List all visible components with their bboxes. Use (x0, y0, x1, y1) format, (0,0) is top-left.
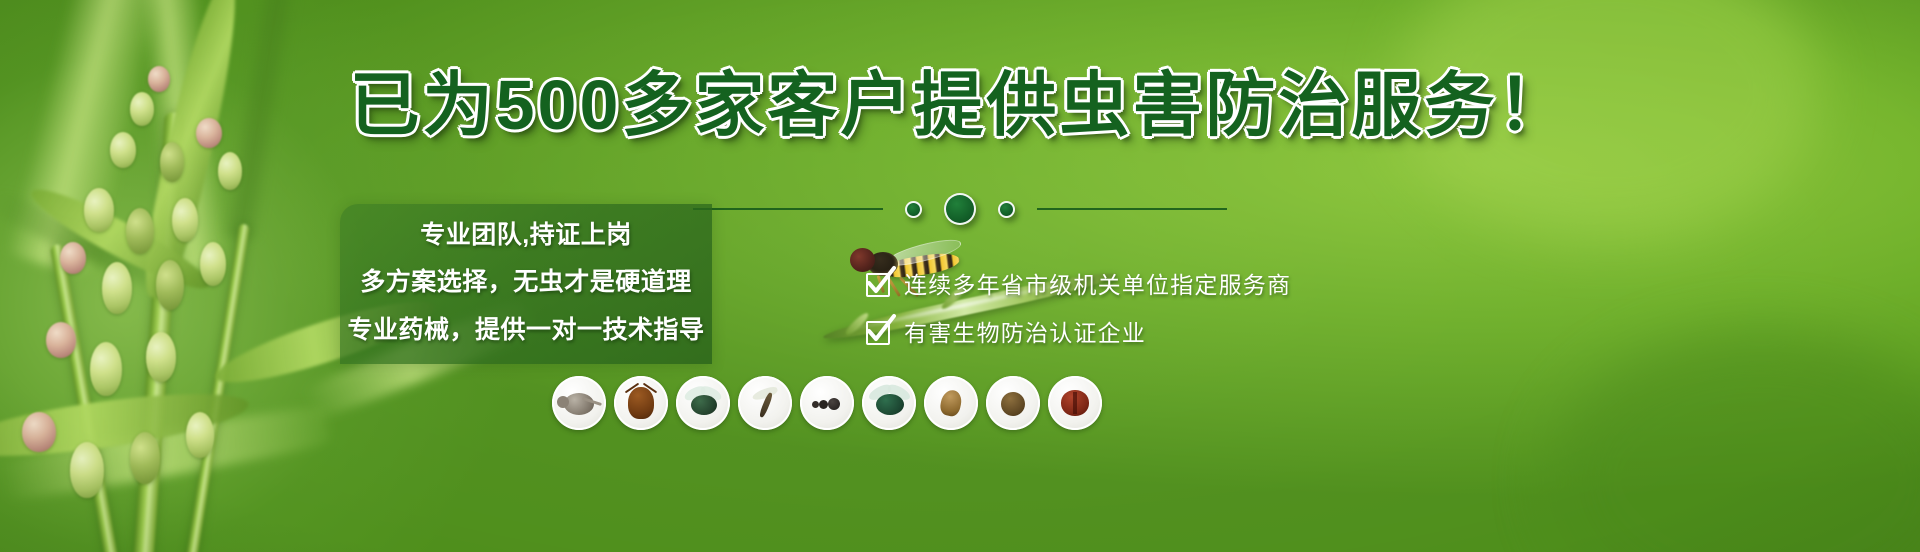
credentials-list: 连续多年省市级机关单位指定服务商 有害生物防治认证企业 (866, 272, 1291, 346)
banner-headline-text: 已为500多家客户提供虫害防治服务！ (350, 66, 1571, 144)
divider-dot-large (944, 193, 976, 225)
divider-line-right (1037, 208, 1227, 210)
selling-points-panel: 专业团队,持证上岗 多方案选择，无虫才是硬道理 专业药械，提供一对一技术指导 (340, 204, 712, 364)
cockroach-icon[interactable] (614, 376, 668, 430)
credential-label: 有害生物防治认证企业 (904, 320, 1146, 346)
credential-item: 有害生物防治认证企业 (866, 320, 1291, 346)
promo-banner: 已为500多家客户提供虫害防治服务！ 专业团队,持证上岗 多方案选择，无虫才是硬… (0, 0, 1920, 552)
credential-label: 连续多年省市级机关单位指定服务商 (904, 272, 1291, 298)
banner-headline: 已为500多家客户提供虫害防治服务！ (0, 62, 1920, 148)
checkbox-checked-icon (866, 321, 890, 345)
pest-icon-row (552, 376, 1102, 430)
divider-line-left (693, 208, 883, 210)
blowfly-icon[interactable] (862, 376, 916, 430)
mouse-icon[interactable] (552, 376, 606, 430)
checkbox-checked-icon (866, 273, 890, 297)
fly-icon[interactable] (676, 376, 730, 430)
tick-icon[interactable] (986, 376, 1040, 430)
selling-point-line-1: 专业团队,持证上岗 (420, 215, 631, 255)
credential-item: 连续多年省市级机关单位指定服务商 (866, 272, 1291, 298)
divider-dot-small-right (998, 201, 1015, 218)
mosquito-icon[interactable] (738, 376, 792, 430)
bedbug-icon[interactable] (1048, 376, 1102, 430)
ant-icon[interactable] (800, 376, 854, 430)
flea-icon[interactable] (924, 376, 978, 430)
divider-dot-small-left (905, 201, 922, 218)
selling-point-line-3: 专业药械，提供一对一技术指导 (347, 309, 704, 351)
decorative-divider (0, 192, 1920, 226)
selling-point-line-2: 多方案选择，无虫才是硬道理 (360, 261, 692, 303)
